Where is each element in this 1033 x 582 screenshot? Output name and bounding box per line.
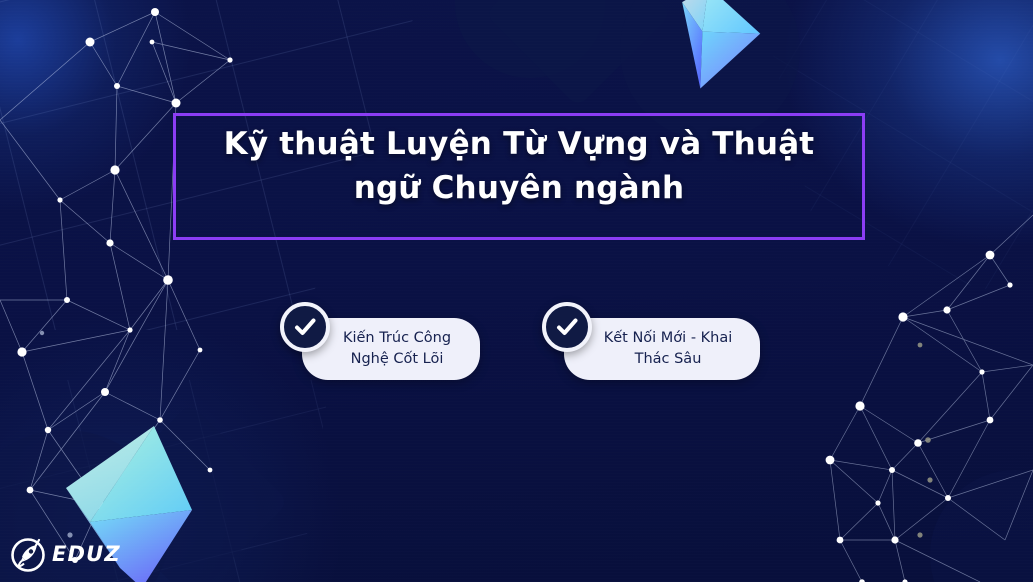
octahedron-top-right xyxy=(648,0,783,102)
decor-circle-top-center xyxy=(455,0,605,78)
badge-pill-1[interactable]: Kết Nối Mới - Khai Thác Sâu xyxy=(564,318,760,380)
check-icon xyxy=(280,302,330,352)
logo-text: EDUZ xyxy=(52,542,121,566)
badge-label-0: Kiến Trúc Công Nghệ Cốt Lõi xyxy=(343,328,451,369)
network-graphic-right xyxy=(0,0,1033,582)
badge-item-1[interactable]: Kết Nối Mới - Khai Thác Sâu xyxy=(542,318,760,380)
grid-pattern-right xyxy=(0,0,1033,582)
network-graphic-left xyxy=(0,0,1033,582)
grid-pattern-bottom xyxy=(0,0,1033,582)
rocket-icon xyxy=(8,534,48,574)
decor-diamond-top-center xyxy=(485,0,672,107)
grid-overlay-region-right xyxy=(0,0,1033,582)
decor-circle-bottom-right xyxy=(930,470,1033,582)
slide-canvas: Kỹ thuật Luyện Từ Vựng và Thuật ngữ Chuy… xyxy=(0,0,1033,582)
badge-label-1: Kết Nối Mới - Khai Thác Sâu xyxy=(604,328,733,369)
badge-item-0[interactable]: Kiến Trúc Công Nghệ Cốt Lõi xyxy=(280,318,480,380)
page-title: Kỹ thuật Luyện Từ Vựng và Thuật ngữ Chuy… xyxy=(199,122,839,210)
grid-overlay-region-bottom xyxy=(0,0,1033,582)
grid-pattern-left xyxy=(0,0,1033,582)
brand-logo[interactable]: EDUZ xyxy=(8,534,121,574)
noise-veil xyxy=(0,0,1033,582)
grid-overlay-region xyxy=(0,0,1033,582)
check-icon xyxy=(542,302,592,352)
title-box: Kỹ thuật Luyện Từ Vựng và Thuật ngữ Chuy… xyxy=(173,113,865,240)
